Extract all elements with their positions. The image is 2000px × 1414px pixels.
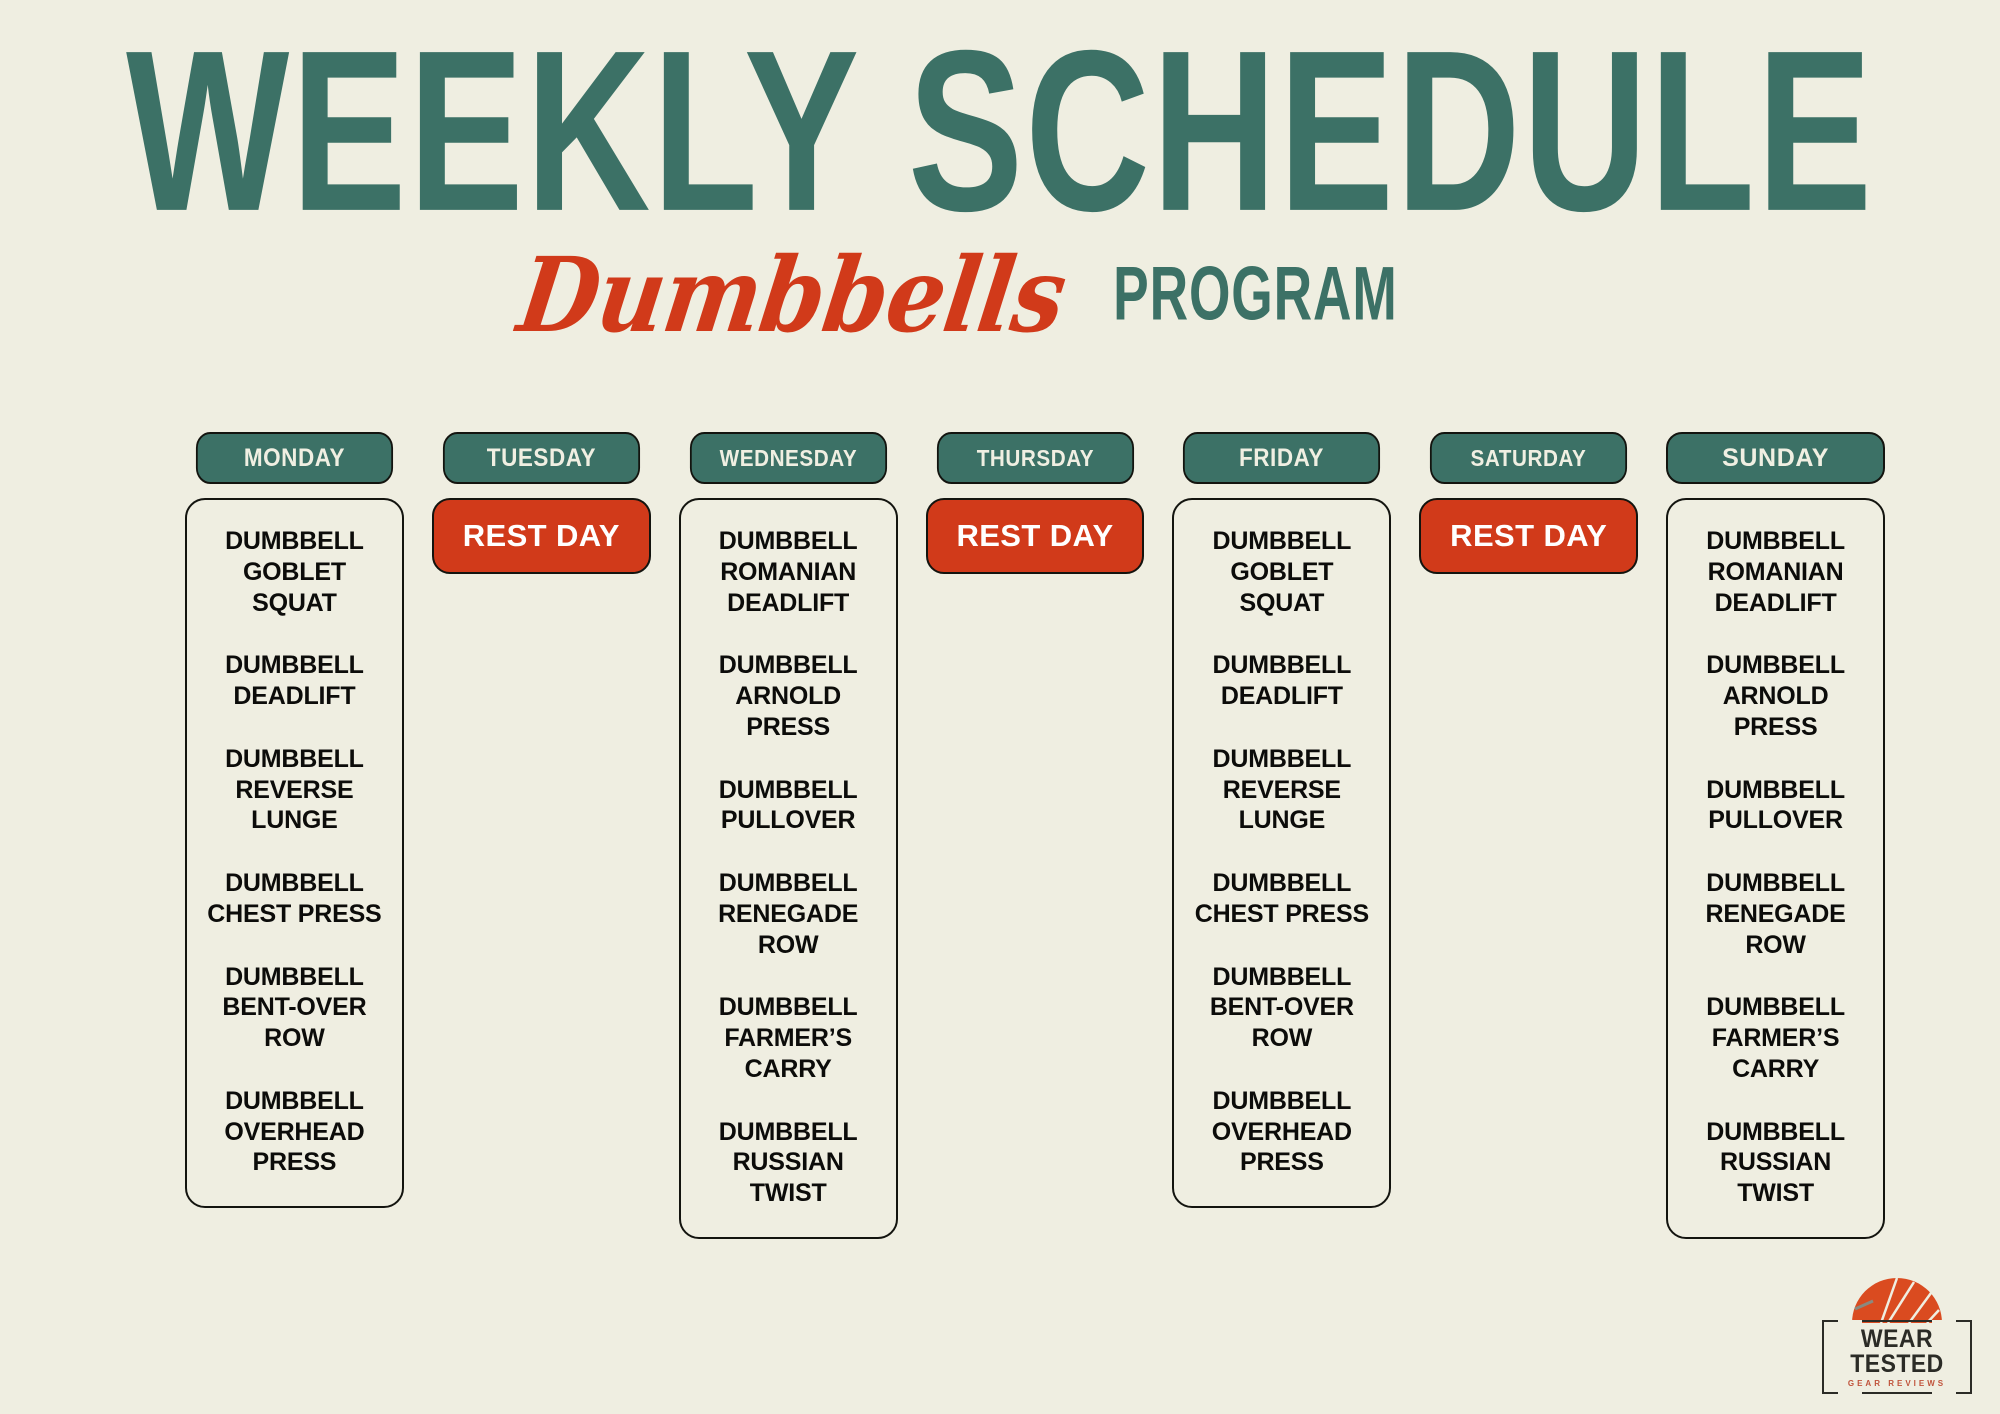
day-column-friday: FRIDAYDUMBBELL GOBLET SQUATDUMBBELL DEAD…	[1172, 432, 1391, 1208]
exercise-item: DUMBBELL CHEST PRESS	[199, 868, 390, 930]
exercise-item: DUMBBELL REVERSE LUNGE	[1186, 744, 1377, 836]
subtitle-script-word: Dumbbells	[512, 243, 1070, 346]
exercise-item: DUMBBELL RUSSIAN TWIST	[693, 1117, 884, 1209]
week-grid: MONDAYDUMBBELL GOBLET SQUATDUMBBELL DEAD…	[185, 432, 1885, 1239]
day-header-wednesday[interactable]: WEDNESDAY	[690, 432, 887, 484]
exercise-item: DUMBBELL RENEGADE ROW	[693, 868, 884, 960]
day-column-tuesday: TUESDAYREST DAY	[432, 432, 651, 574]
rest-day-badge: REST DAY	[432, 498, 651, 574]
exercise-item: DUMBBELL ROMANIAN DEADLIFT	[693, 526, 884, 618]
brand-logo: WEAR TESTED GEAR REVIEWS	[1822, 1277, 1972, 1394]
day-column-thursday: THURSDAYREST DAY	[926, 432, 1145, 574]
rest-day-badge: REST DAY	[1419, 498, 1638, 574]
exercise-item: DUMBBELL REVERSE LUNGE	[199, 744, 390, 836]
day-column-sunday: SUNDAYDUMBBELL ROMANIAN DEADLIFTDUMBBELL…	[1666, 432, 1885, 1239]
day-header-thursday[interactable]: THURSDAY	[937, 432, 1134, 484]
exercise-item: DUMBBELL CHEST PRESS	[1186, 868, 1377, 930]
exercise-item: DUMBBELL BENT-OVER ROW	[1186, 962, 1377, 1054]
exercise-item: DUMBBELL OVERHEAD PRESS	[1186, 1086, 1377, 1178]
exercise-item: DUMBBELL OVERHEAD PRESS	[199, 1086, 390, 1178]
exercise-item: DUMBBELL GOBLET SQUAT	[199, 526, 390, 618]
workout-card: DUMBBELL ROMANIAN DEADLIFTDUMBBELL ARNOL…	[1666, 498, 1885, 1239]
page-title: WEEKLY SCHEDULE	[80, 22, 1920, 240]
exercise-item: DUMBBELL DEADLIFT	[1186, 650, 1377, 712]
exercise-item: DUMBBELL ARNOLD PRESS	[1680, 650, 1871, 742]
day-header-tuesday[interactable]: TUESDAY	[443, 432, 640, 484]
exercise-item: DUMBBELL GOBLET SQUAT	[1186, 526, 1377, 618]
shutter-icon	[1851, 1277, 1943, 1323]
workout-card: DUMBBELL GOBLET SQUATDUMBBELL DEADLIFTDU…	[1172, 498, 1391, 1208]
day-header-saturday[interactable]: SATURDAY	[1430, 432, 1627, 484]
logo-tagline: GEAR REVIEWS	[1826, 1380, 1968, 1388]
exercise-item: DUMBBELL PULLOVER	[693, 775, 884, 837]
logo-name: WEAR TESTED	[1832, 1327, 1963, 1377]
day-column-monday: MONDAYDUMBBELL GOBLET SQUATDUMBBELL DEAD…	[185, 432, 404, 1208]
exercise-item: DUMBBELL RENEGADE ROW	[1680, 868, 1871, 960]
workout-card: DUMBBELL ROMANIAN DEADLIFTDUMBBELL ARNOL…	[679, 498, 898, 1239]
exercise-item: DUMBBELL PULLOVER	[1680, 775, 1871, 837]
rest-day-badge: REST DAY	[926, 498, 1145, 574]
logo-frame: WEAR TESTED GEAR REVIEWS	[1822, 1320, 1972, 1394]
exercise-item: DUMBBELL FARMER’S CARRY	[1680, 992, 1871, 1084]
exercise-item: DUMBBELL RUSSIAN TWIST	[1680, 1117, 1871, 1209]
page-header: WEEKLY SCHEDULE Dumbbells PROGRAM	[0, 0, 2000, 341]
exercise-item: DUMBBELL ARNOLD PRESS	[693, 650, 884, 742]
workout-card: DUMBBELL GOBLET SQUATDUMBBELL DEADLIFTDU…	[185, 498, 404, 1208]
subtitle-program-word: PROGRAM	[1113, 257, 1397, 333]
day-column-wednesday: WEDNESDAYDUMBBELL ROMANIAN DEADLIFTDUMBB…	[679, 432, 898, 1239]
exercise-item: DUMBBELL DEADLIFT	[199, 650, 390, 712]
day-header-monday[interactable]: MONDAY	[196, 432, 393, 484]
subtitle-row: Dumbbells PROGRAM	[0, 249, 1970, 341]
exercise-item: DUMBBELL FARMER’S CARRY	[693, 992, 884, 1084]
day-header-sunday[interactable]: SUNDAY	[1666, 432, 1885, 484]
exercise-item: DUMBBELL BENT-OVER ROW	[199, 962, 390, 1054]
day-header-friday[interactable]: FRIDAY	[1183, 432, 1380, 484]
exercise-item: DUMBBELL ROMANIAN DEADLIFT	[1680, 526, 1871, 618]
day-column-saturday: SATURDAYREST DAY	[1419, 432, 1638, 574]
